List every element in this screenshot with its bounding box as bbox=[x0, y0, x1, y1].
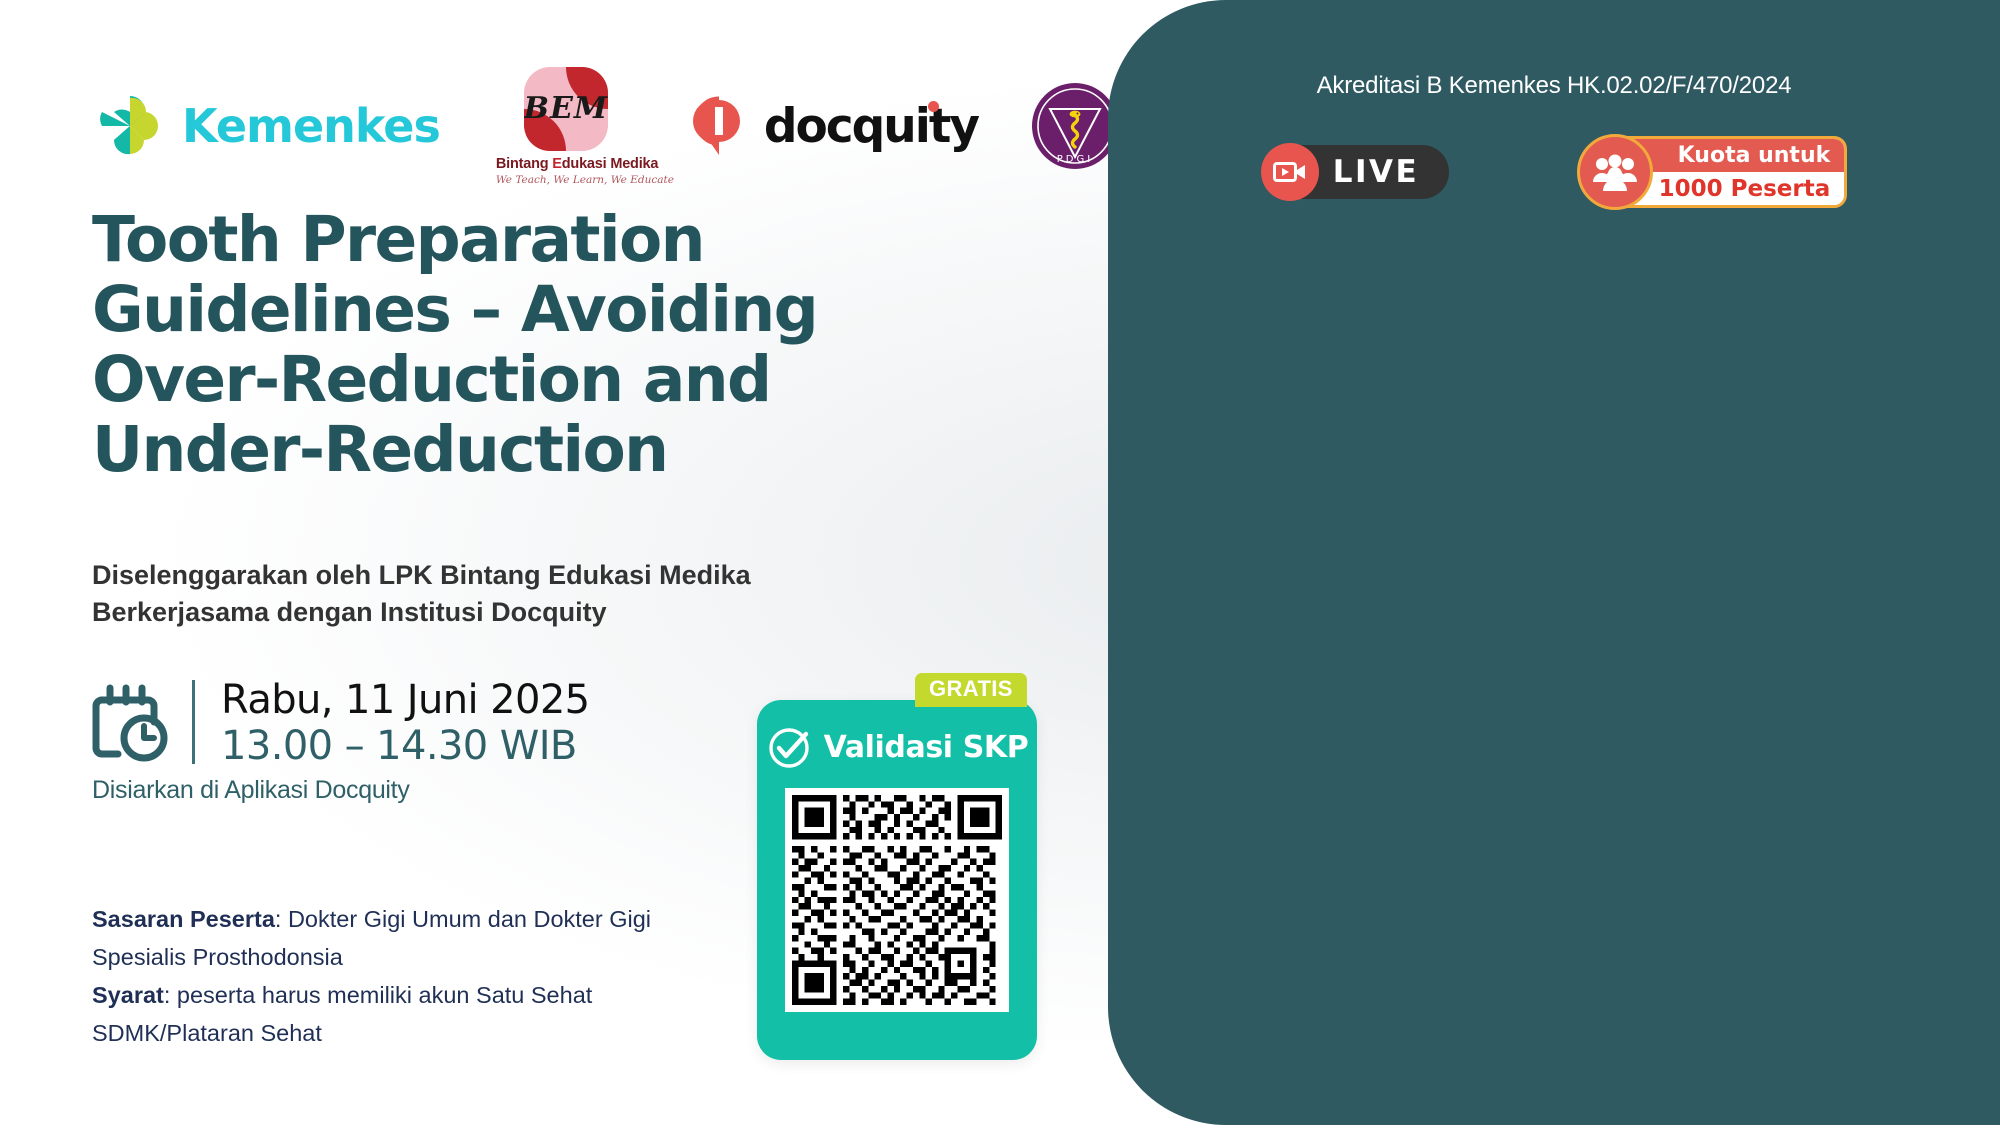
schedule-note: Disiarkan di Aplikasi Docquity bbox=[92, 776, 590, 805]
logo-pdgi: PDGI bbox=[1030, 81, 1120, 171]
subtitle-line-2: Berkerjasama dengan Institusi Docquity bbox=[92, 594, 952, 631]
poster-canvas: Kemenkes BEM Bintang Edukasi Medika We T… bbox=[0, 0, 2000, 1125]
poster-subtitle: Diselenggarakan oleh LPK Bintang Edukasi… bbox=[92, 557, 952, 630]
live-badge-label: LIVE bbox=[1333, 154, 1419, 190]
partner-logo-row: Kemenkes BEM Bintang Edukasi Medika We T… bbox=[92, 68, 1120, 184]
docquity-speech-bubble-icon bbox=[690, 95, 748, 157]
schedule-block: Rabu, 11 Juni 2025 13.00 – 14.30 WIB Dis… bbox=[92, 678, 590, 805]
poster-title: Tooth Preparation Guidelines – Avoiding … bbox=[92, 205, 972, 485]
badge-row: LIVE Kuota untuk 1000 Peserta bbox=[1108, 136, 2000, 208]
pdgi-emblem-icon: PDGI bbox=[1030, 81, 1120, 171]
audience-target: Sasaran Peserta: Dokter Gigi Umum dan Do… bbox=[92, 900, 732, 976]
bem-mark-icon: BEM bbox=[524, 67, 608, 151]
audience-requirement: Syarat: peserta harus memiliki akun Satu… bbox=[92, 976, 732, 1052]
video-camera-icon bbox=[1261, 143, 1319, 201]
qr-code[interactable] bbox=[785, 788, 1009, 1012]
gratis-badge: GRATIS bbox=[915, 673, 1027, 707]
kemenkes-wordmark: Kemenkes bbox=[182, 99, 440, 153]
live-badge: LIVE bbox=[1261, 143, 1449, 201]
bem-tagline: We Teach, We Learn, We Educate bbox=[496, 174, 636, 186]
logo-bem: BEM Bintang Edukasi Medika We Teach, We … bbox=[496, 67, 636, 186]
audience-requirement-label: Syarat bbox=[92, 982, 164, 1008]
kemenkes-flower-icon bbox=[92, 88, 168, 164]
logo-kemenkes: Kemenkes bbox=[92, 88, 440, 164]
title-line-3: Over-Reduction and bbox=[92, 345, 972, 415]
docquity-wordmark: docquity bbox=[764, 99, 978, 154]
schedule-date: Rabu, 11 Juni 2025 bbox=[221, 678, 590, 723]
audience-requirement-value: : peserta harus memiliki akun Satu Sehat… bbox=[92, 982, 592, 1046]
audience-target-label: Sasaran Peserta bbox=[92, 906, 275, 932]
title-line-2: Guidelines – Avoiding bbox=[92, 275, 972, 345]
docquity-dot-icon bbox=[928, 101, 939, 112]
title-line-4: Under-Reduction bbox=[92, 415, 972, 485]
accreditation-text: Akreditasi B Kemenkes HK.02.02/F/470/202… bbox=[1108, 72, 2000, 100]
qr-code-image bbox=[792, 795, 1002, 1005]
logo-docquity: docquity bbox=[690, 95, 978, 157]
title-line-1: Tooth Preparation bbox=[92, 205, 972, 275]
check-circle-icon bbox=[766, 724, 812, 770]
bem-mark-letters: BEM bbox=[524, 67, 608, 151]
schedule-time: 13.00 – 14.30 WIB bbox=[221, 723, 590, 770]
people-group-icon bbox=[1577, 134, 1653, 210]
subtitle-line-1: Diselenggarakan oleh LPK Bintang Edukasi… bbox=[92, 557, 952, 594]
svg-text:PDGI: PDGI bbox=[1057, 154, 1093, 165]
right-panel: Akreditasi B Kemenkes HK.02.02/F/470/202… bbox=[1108, 0, 2000, 1125]
calendar-clock-icon bbox=[92, 682, 170, 764]
validasi-skp-title: Validasi SKP bbox=[824, 730, 1029, 765]
schedule-divider bbox=[192, 680, 195, 764]
bem-name: Bintang Edukasi Medika bbox=[496, 156, 636, 172]
quota-badge: Kuota untuk 1000 Peserta bbox=[1577, 136, 1847, 208]
validasi-skp-card[interactable]: Validasi SKP bbox=[757, 700, 1037, 1060]
audience-block: Sasaran Peserta: Dokter Gigi Umum dan Do… bbox=[92, 900, 732, 1052]
